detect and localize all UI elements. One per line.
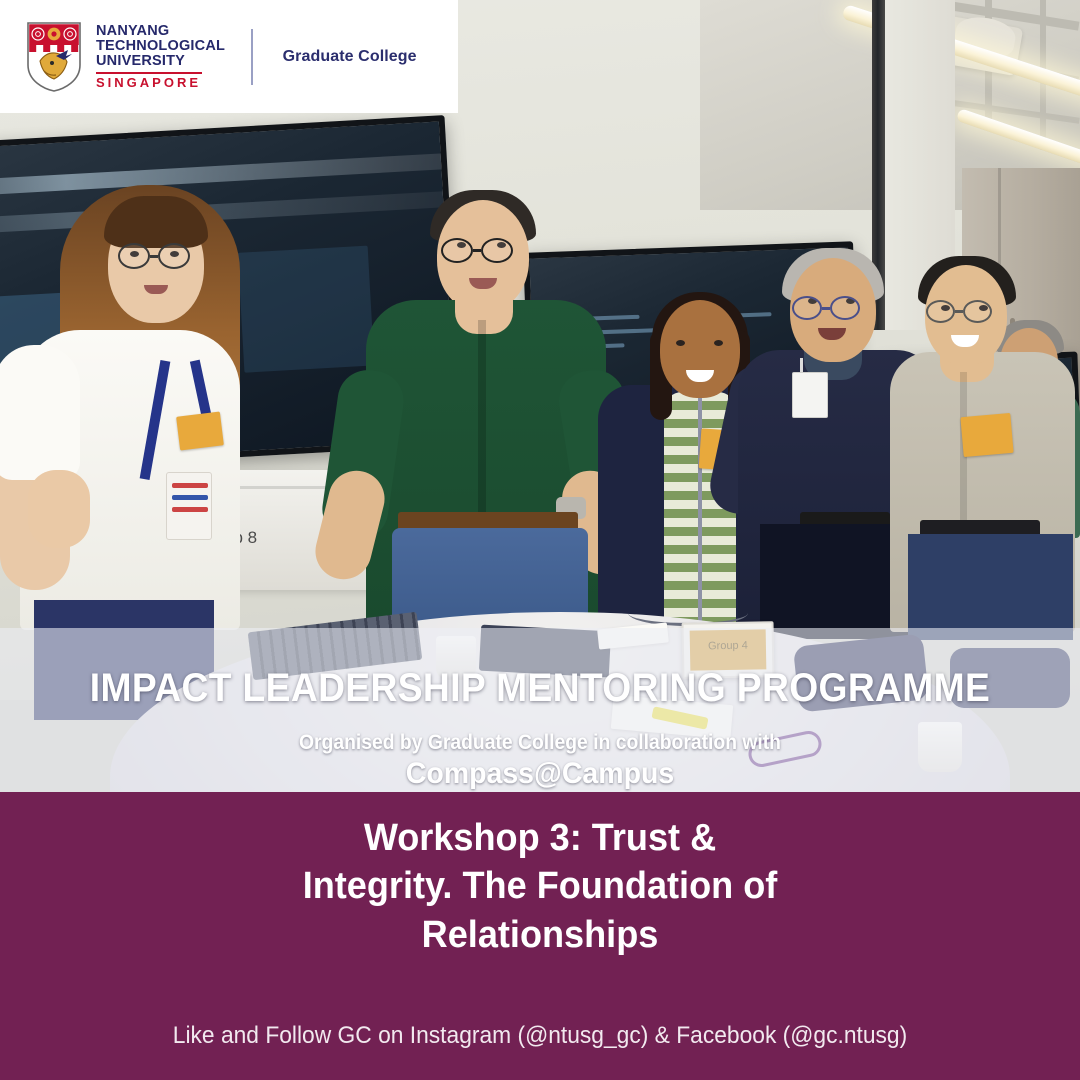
- wordmark-line-2: TECHNOLOGICAL: [96, 39, 225, 54]
- id-card-holder: [166, 472, 212, 540]
- smile: [951, 335, 979, 347]
- shirt-placket: [478, 320, 486, 530]
- partner-name: Compass@Campus: [27, 757, 1053, 791]
- programme-title: IMPACT LEADERSHIP MENTORING PROGRAMME: [38, 666, 1042, 711]
- id-card: [792, 372, 828, 418]
- shirt-placket: [960, 372, 967, 542]
- smile: [686, 370, 714, 382]
- name-badge: [176, 411, 224, 450]
- poster-canvas: up 8: [0, 0, 1080, 1080]
- wordmark-country: SINGAPORE: [96, 76, 225, 90]
- eye: [676, 340, 685, 346]
- wordmark-rule: [96, 72, 202, 74]
- logo-divider: [251, 29, 253, 85]
- mouth: [144, 285, 168, 294]
- workshop-title: Workshop 3: Trust & Integrity. The Found…: [27, 814, 1053, 959]
- social-follow-text: Like and Follow GC on Instagram (@ntusg_…: [27, 1022, 1053, 1050]
- organiser-line: Organised by Graduate College in collabo…: [43, 731, 1037, 755]
- eye: [714, 340, 723, 346]
- workshop-title-line-2: Integrity. The Foundation of: [27, 862, 1053, 910]
- graduate-college-label: Graduate College: [283, 48, 417, 66]
- mouth: [469, 278, 497, 289]
- ntu-logo-plate: NANYANG TECHNOLOGICAL UNIVERSITY SINGAPO…: [0, 0, 458, 113]
- wordmark-line-1: NANYANG: [96, 24, 225, 39]
- screen-content: [238, 246, 374, 373]
- mouth: [818, 328, 846, 340]
- purple-info-band: Workshop 3: Trust & Integrity. The Found…: [0, 792, 1080, 1080]
- name-badge: [960, 413, 1013, 457]
- ntu-wordmark: NANYANG TECHNOLOGICAL UNIVERSITY SINGAPO…: [96, 24, 225, 89]
- wordmark-line-3: UNIVERSITY: [96, 54, 225, 69]
- sleeve: [0, 345, 80, 480]
- workshop-title-line-3: Relationships: [27, 911, 1053, 959]
- trousers: [908, 534, 1073, 640]
- fringe: [104, 196, 208, 248]
- ntu-crest-icon: [26, 21, 82, 93]
- face: [660, 300, 740, 398]
- hand: [28, 470, 90, 548]
- workshop-title-line-1: Workshop 3: Trust &: [27, 814, 1053, 862]
